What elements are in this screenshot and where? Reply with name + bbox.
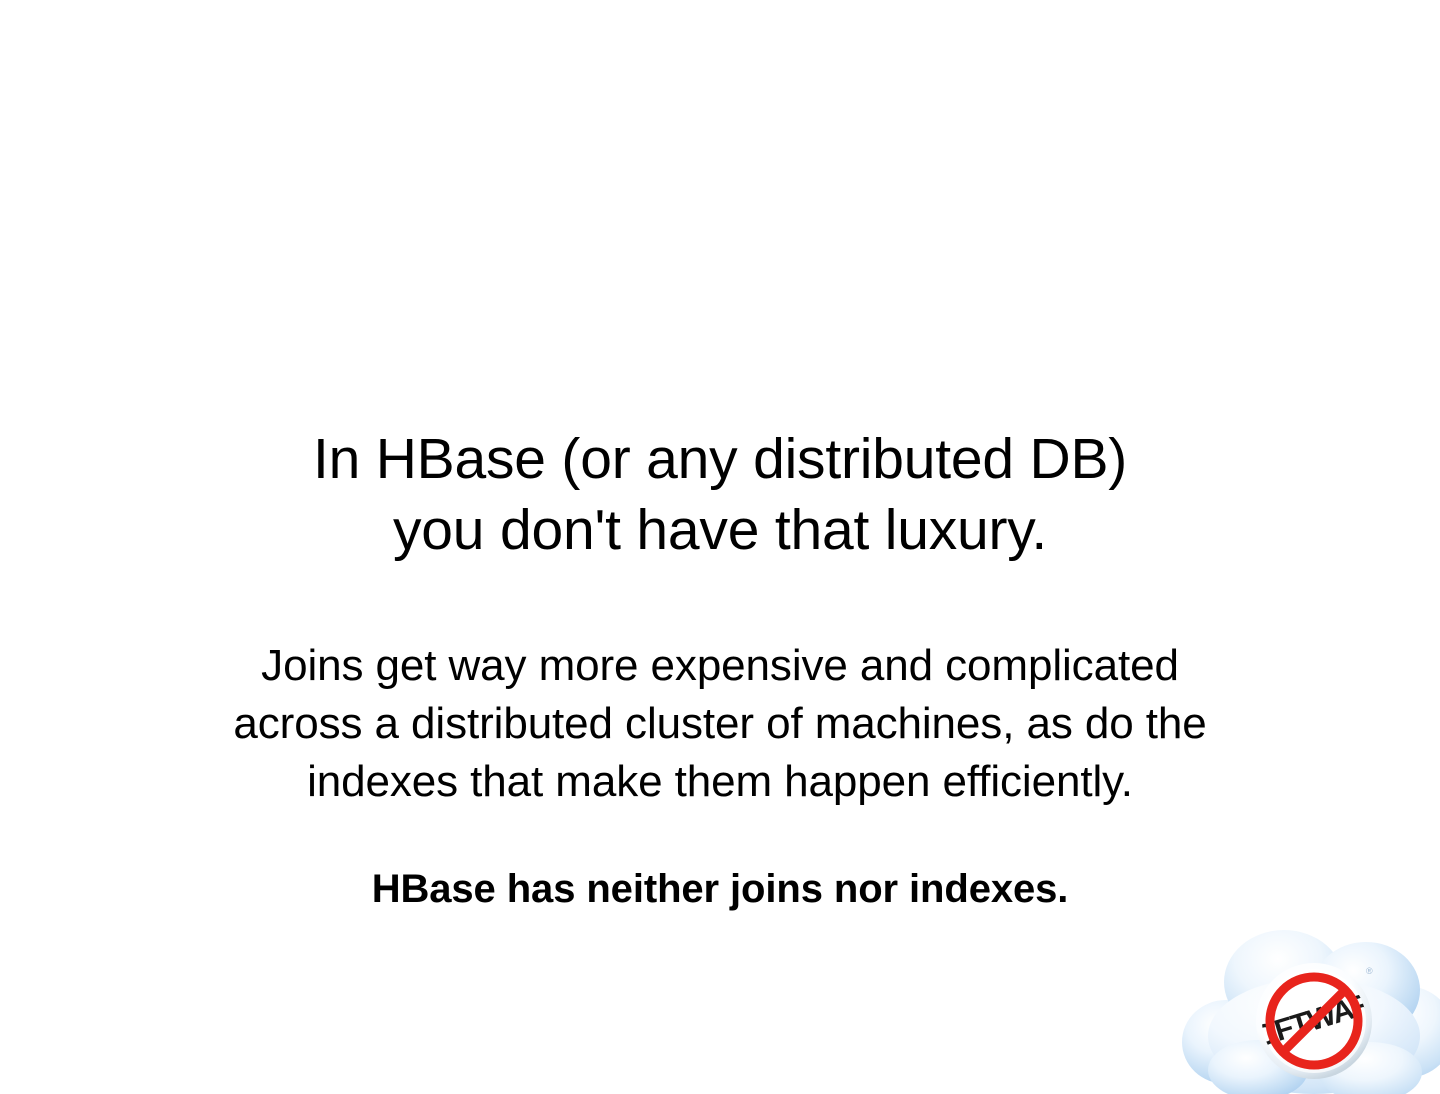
body-line-3: indexes that make them happen efficientl…	[0, 753, 1440, 811]
slide-body-paragraph: Joins get way more expensive and complic…	[0, 637, 1440, 811]
slide-text-block: In HBase (or any distributed DB) you don…	[0, 424, 1440, 913]
registered-trademark-mark: ®	[1366, 966, 1373, 976]
slide-canvas: In HBase (or any distributed DB) you don…	[0, 0, 1440, 1080]
body-line-1: Joins get way more expensive and complic…	[0, 637, 1440, 695]
body-emphasis-spacer	[0, 811, 1440, 865]
headline-line-2: you don't have that luxury.	[0, 495, 1440, 566]
headline-line-1: In HBase (or any distributed DB)	[0, 424, 1440, 495]
headline-body-spacer	[0, 566, 1440, 637]
no-software-cloud-logo: SOFTWARE ®	[1180, 924, 1440, 1094]
slide-headline: In HBase (or any distributed DB) you don…	[0, 424, 1440, 566]
body-line-2: across a distributed cluster of machines…	[0, 695, 1440, 753]
slide-emphasis-line: HBase has neither joins nor indexes.	[0, 865, 1440, 913]
